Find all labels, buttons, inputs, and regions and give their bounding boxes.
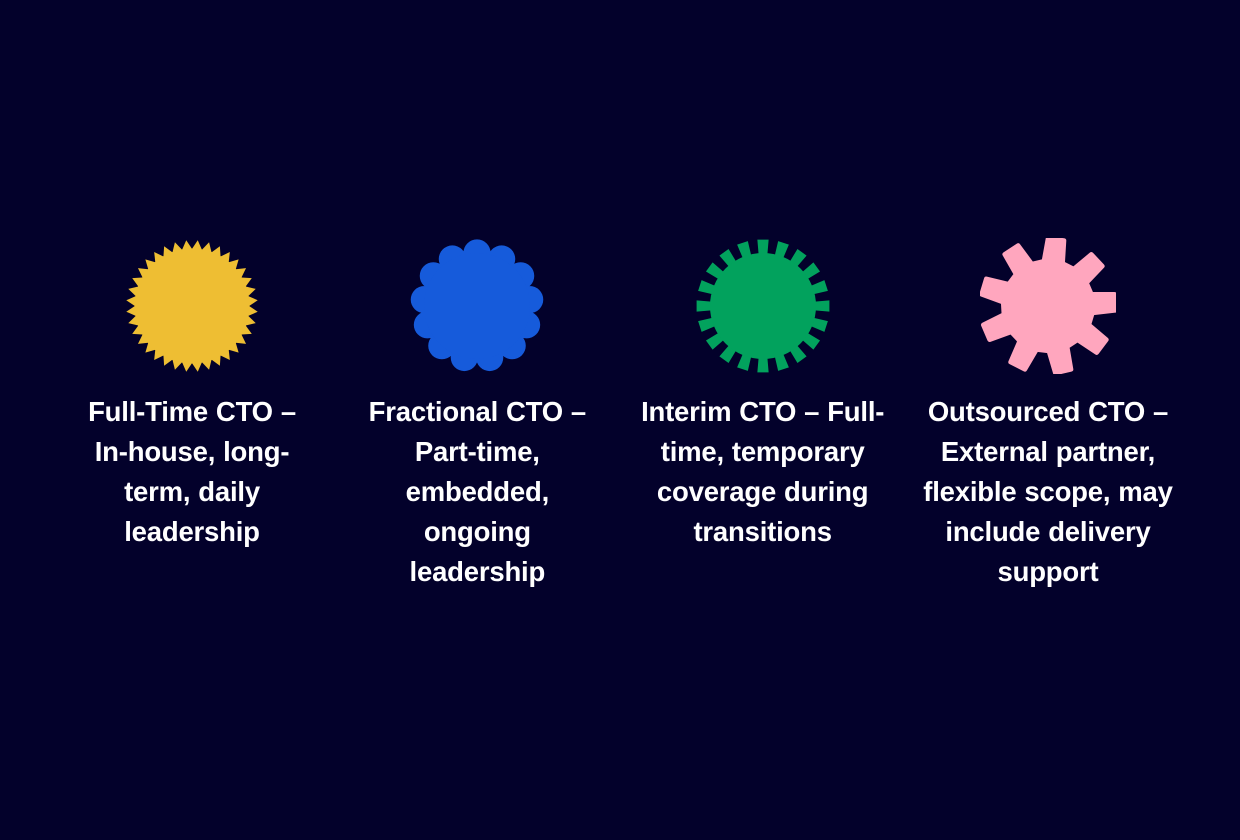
column-fractional-cto: Fractional CTO – Part-time, embedded, on… <box>345 236 609 592</box>
column-caption: Outsourced CTO – External partner, flexi… <box>922 392 1174 592</box>
cto-model-columns: Full-Time CTO – In-house, long-term, dai… <box>60 236 1180 592</box>
column-full-time-cto: Full-Time CTO – In-house, long-term, dai… <box>60 236 324 552</box>
column-interim-cto: Interim CTO – Full-time, temporary cover… <box>631 236 895 552</box>
column-caption: Fractional CTO – Part-time, embedded, on… <box>352 392 602 592</box>
square-tooth-gear-icon <box>695 236 831 376</box>
chunky-cog-icon <box>980 236 1116 376</box>
sunburst-gear-icon <box>124 236 260 376</box>
column-caption: Interim CTO – Full-time, temporary cover… <box>639 392 887 552</box>
column-outsourced-cto: Outsourced CTO – External partner, flexi… <box>916 236 1180 592</box>
slide-canvas: Full-Time CTO – In-house, long-term, dai… <box>0 0 1240 840</box>
scalloped-gear-icon <box>409 236 545 376</box>
column-caption: Full-Time CTO – In-house, long-term, dai… <box>81 392 303 552</box>
